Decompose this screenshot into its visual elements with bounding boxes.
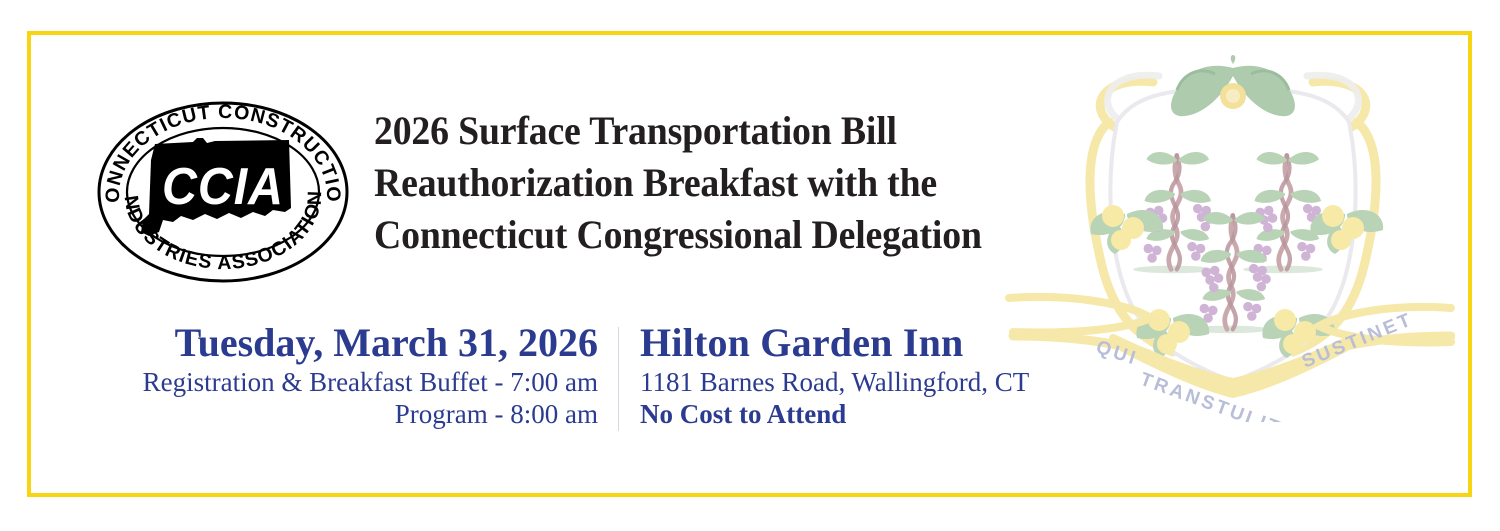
page-title-line-2: Reauthorization Breakfast with the [374, 157, 1036, 209]
seal-motto-word-1: QUI [1093, 337, 1140, 370]
event-venue-name: Hilton Garden Inn [640, 320, 1029, 366]
event-venue-address: 1181 Barnes Road, Wallingford, CT [640, 366, 1029, 398]
event-registration-time: Registration & Breakfast Buffet - 7:00 a… [58, 366, 598, 398]
ccia-logo: CONNECTICUT CONSTRUCTION INDUSTRIES ASSO… [97, 100, 349, 284]
event-date: Tuesday, March 31, 2026 [58, 320, 598, 366]
event-where-block: Hilton Garden Inn 1181 Barnes Road, Wall… [619, 320, 1029, 431]
event-details: Tuesday, March 31, 2026 Registration & B… [58, 320, 1098, 431]
event-program-time: Program - 8:00 am [58, 398, 598, 430]
page-title: 2026 Surface Transportation Bill Reautho… [374, 105, 1036, 261]
page-title-line-3: Connecticut Congressional Delegation [374, 209, 1036, 261]
event-flyer: QUI TRANSTULIT SUSTINET CONNECTICUT CONS… [0, 0, 1500, 531]
page-title-line-1: 2026 Surface Transportation Bill [374, 105, 1036, 157]
ccia-monogram: CCIA [162, 157, 284, 215]
event-when-block: Tuesday, March 31, 2026 Registration & B… [58, 320, 618, 430]
event-cost: No Cost to Attend [640, 398, 1029, 431]
